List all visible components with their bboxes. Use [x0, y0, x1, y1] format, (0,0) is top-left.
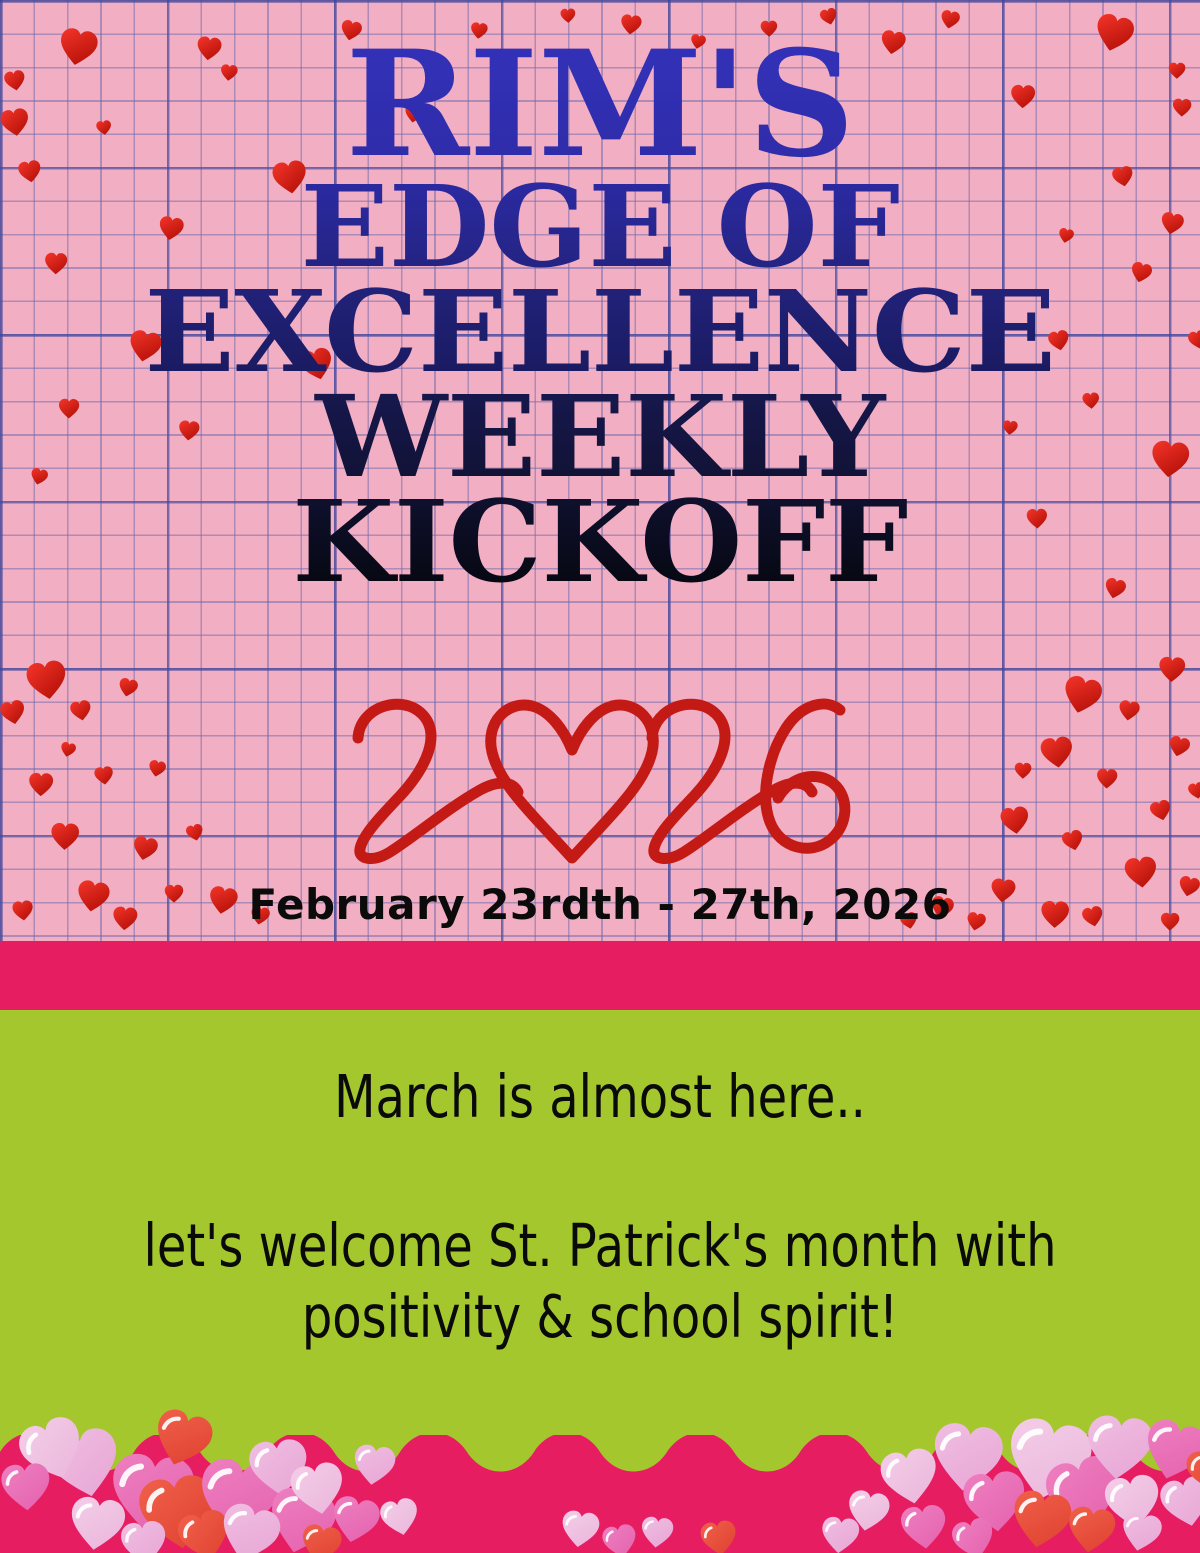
date-range-text: February 23rdth - 27th, 2026: [0, 880, 1200, 929]
wave-divider-bottom: [0, 1418, 1200, 1480]
title-line-1: RIM'S: [0, 38, 1200, 172]
poster-title: RIM'S EDGE OF EXCELLENCE WEEKLY KICKOFF: [0, 0, 1200, 594]
message-line-3: positivity & school spirit!: [24, 1276, 1176, 1360]
message-spacer: [0, 1133, 1200, 1211]
poster-canvas: RIM'S EDGE OF EXCELLENCE WEEKLY KICKOFF …: [0, 0, 1200, 1553]
title-line-5: KICKOFF: [0, 491, 1200, 594]
title-line-3: EXCELLENCE: [0, 281, 1200, 384]
title-line-2: EDGE OF: [0, 176, 1200, 279]
message-block: March is almost here.. let's welcome St.…: [0, 1062, 1200, 1353]
message-line-1: March is almost here..: [24, 1056, 1176, 1140]
title-line-4: WEEKLY: [0, 386, 1200, 489]
